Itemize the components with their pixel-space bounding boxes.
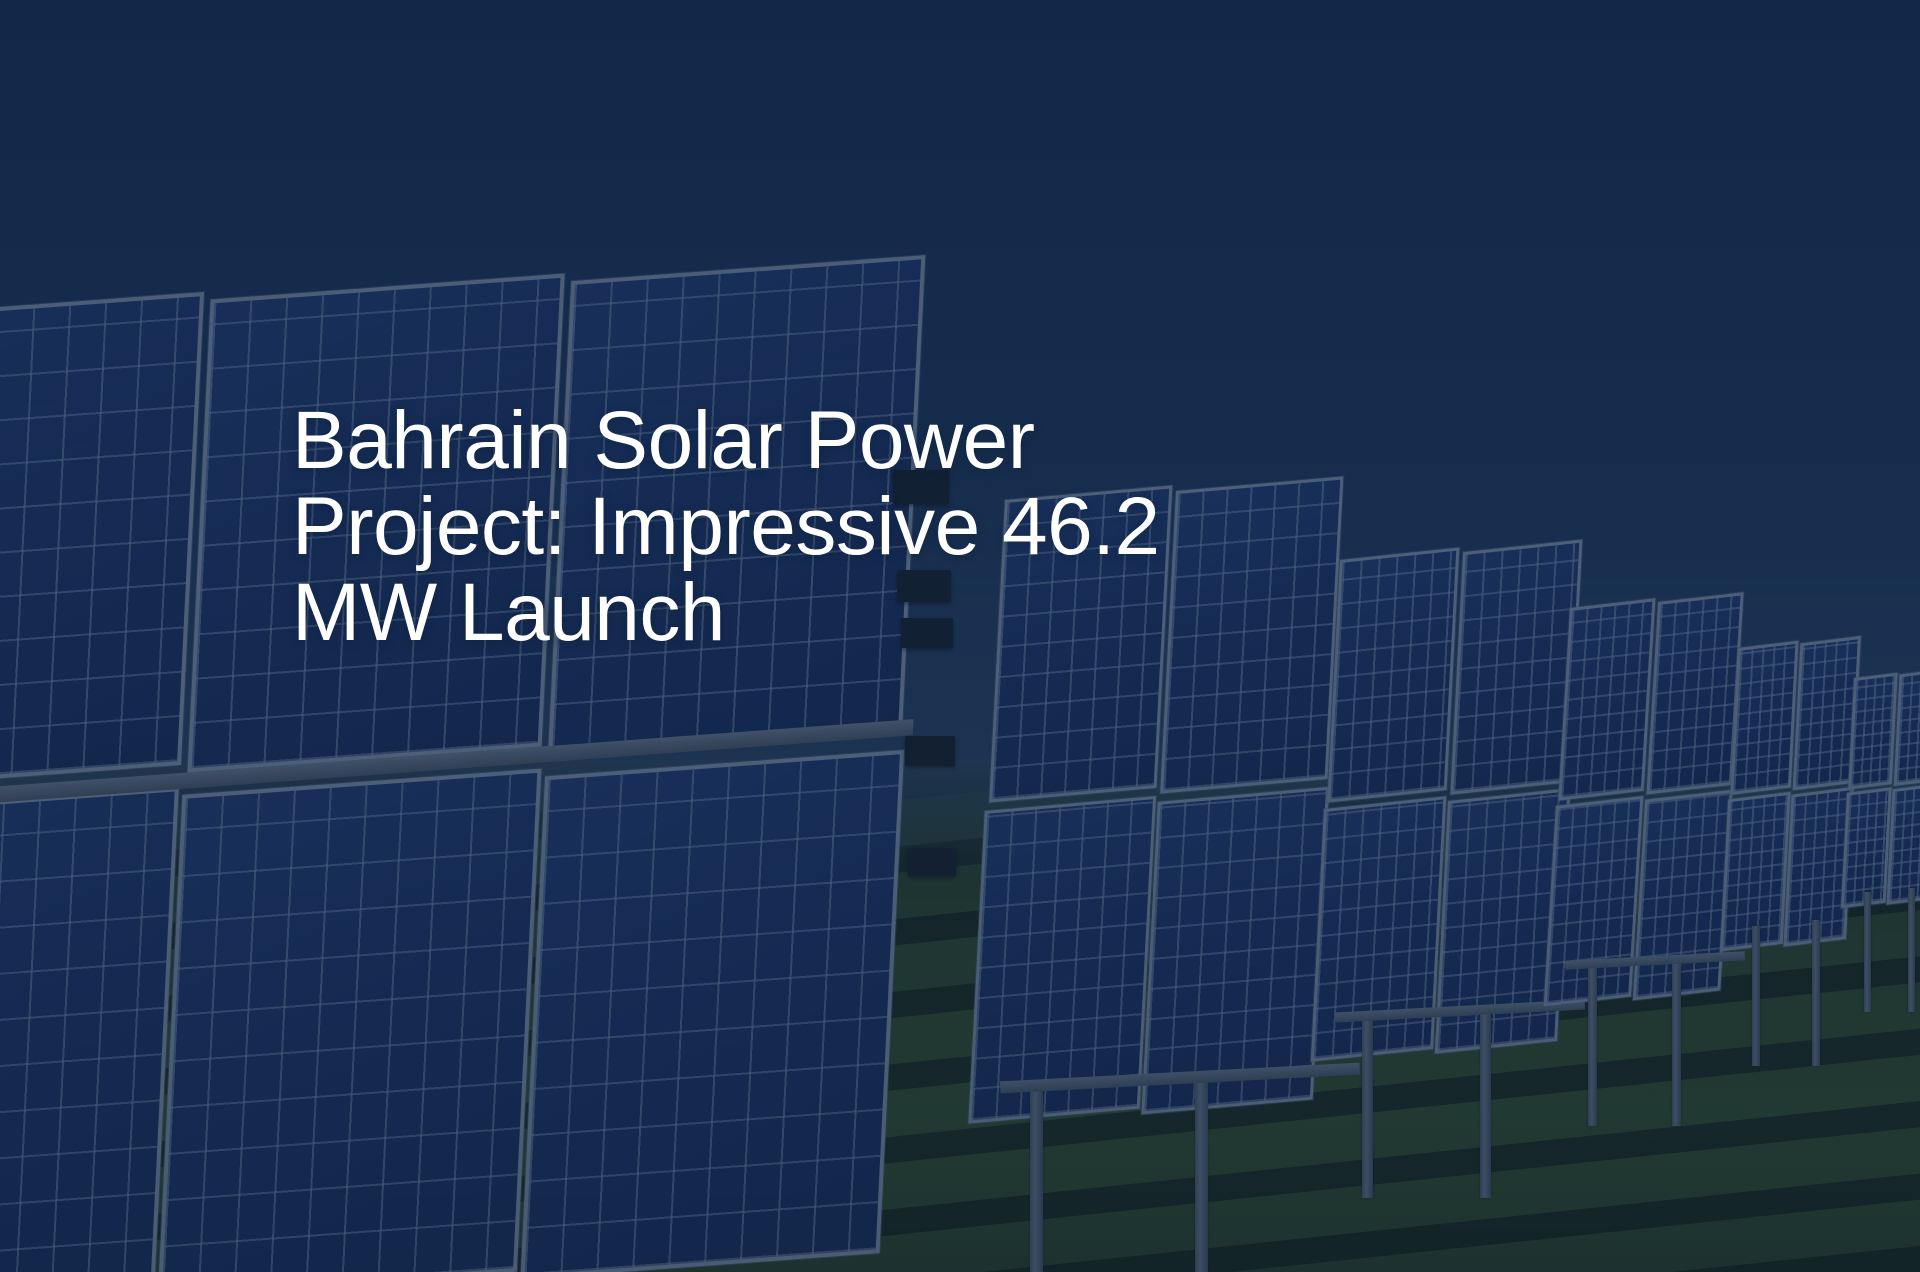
hero-banner: Bahrain Solar Power Project: Impressive … [0, 0, 1920, 1272]
page-title: Bahrain Solar Power Project: Impressive … [292, 398, 1252, 656]
headline-container: Bahrain Solar Power Project: Impressive … [292, 398, 1252, 656]
